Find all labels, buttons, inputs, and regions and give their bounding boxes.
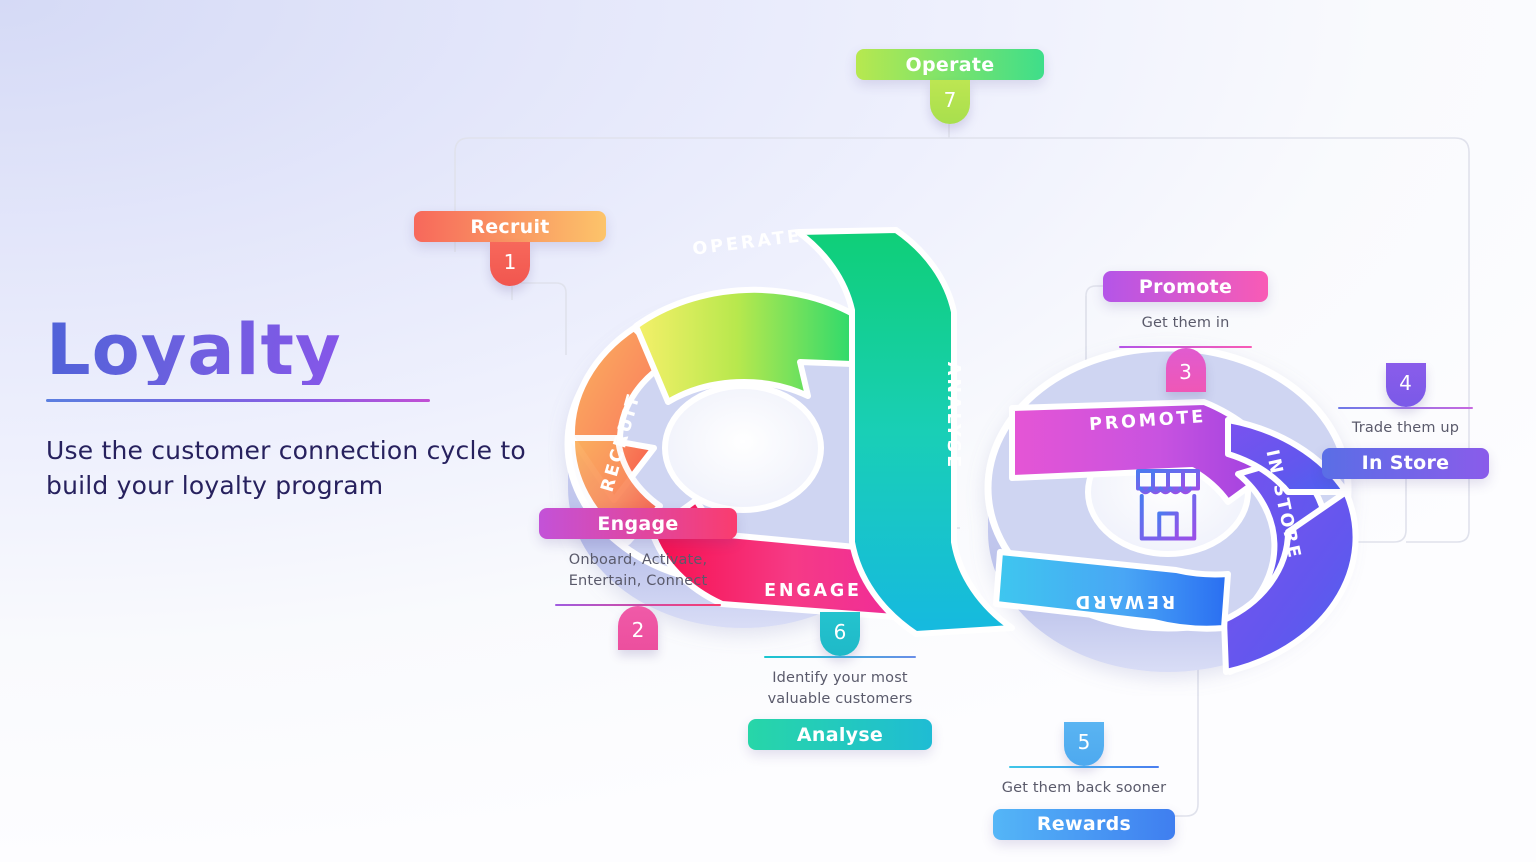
callout-analyse-desc: Identify your most valuable customers (753, 668, 928, 709)
page-subtitle: Use the customer connection cycle to bui… (46, 434, 526, 503)
ribbon-label-engage: ENGAGE (764, 581, 862, 601)
ribbon-label-reward: REWARD (1073, 591, 1175, 611)
callout-engage-number: 2 (618, 606, 658, 650)
title-block: Loyalty Use the customer connection cycl… (46, 315, 566, 503)
ribbon-label-operate: OPERATE (691, 226, 803, 259)
callout-analyse-pill[interactable]: Analyse (748, 719, 932, 750)
callout-operate-pill[interactable]: Operate (856, 49, 1044, 80)
callout-promote[interactable]: Promote Get them in 3 (1103, 271, 1268, 392)
callout-instore-desc: Trade them up (1338, 418, 1473, 439)
callout-promote-number: 3 (1166, 348, 1206, 392)
callout-operate[interactable]: Operate 7 (872, 49, 1028, 124)
callout-rewards-number: 5 (1064, 722, 1104, 766)
ribbon-label-analyse: ANALYSE (943, 362, 963, 470)
callout-rewards[interactable]: 5 Get them back sooner Rewards (1009, 722, 1159, 840)
callout-instore-number: 4 (1386, 363, 1426, 407)
callout-recruit-pill[interactable]: Recruit (414, 211, 606, 242)
callout-analyse-rule (764, 656, 916, 658)
page-title: Loyalty (46, 315, 566, 385)
callout-instore-rule (1338, 407, 1473, 409)
callout-instore[interactable]: 4 Trade them up In Store (1338, 363, 1473, 479)
callout-recruit[interactable]: Recruit 1 (430, 211, 590, 286)
callout-rewards-pill[interactable]: Rewards (993, 809, 1175, 840)
callout-engage-desc: Onboard, Activate, Entertain, Connect (543, 550, 733, 591)
callout-rewards-rule (1009, 766, 1159, 768)
callout-promote-pill[interactable]: Promote (1103, 271, 1268, 302)
callout-rewards-desc: Get them back sooner (989, 778, 1179, 799)
callout-engage[interactable]: Engage Onboard, Activate, Entertain, Con… (555, 508, 721, 650)
callout-engage-pill[interactable]: Engage (539, 508, 737, 539)
callout-analyse[interactable]: 6 Identify your most valuable customers … (764, 612, 916, 750)
callout-recruit-number: 1 (490, 242, 530, 286)
title-underline (46, 399, 430, 402)
callout-promote-desc: Get them in (1103, 313, 1268, 334)
callout-analyse-number: 6 (820, 612, 860, 656)
callout-instore-pill[interactable]: In Store (1322, 448, 1489, 479)
callout-operate-number: 7 (930, 80, 970, 124)
